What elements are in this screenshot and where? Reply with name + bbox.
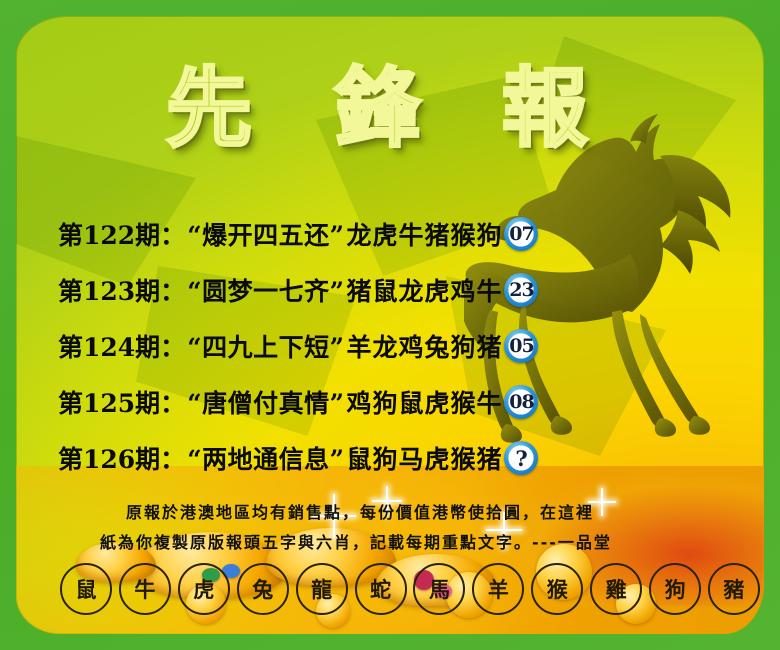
notice-line-2: 紙為你複製原版報頭五字與六肖，記載每期重點文字。---一品堂 [100,528,726,558]
lottery-ball: 05 [504,329,538,363]
issue-label: 第125期： [58,384,185,420]
zodiac-monkey[interactable]: 猴 [531,563,583,615]
lottery-ball: 23 [504,273,538,307]
issue-label: 第124期： [58,328,185,364]
zodiac-text: 龙虎牛猪猴狗 [346,216,502,252]
phrase-text: “圆梦一七齐” [187,272,344,308]
phrase-text: “爆开四五还” [187,216,344,252]
page-title: 先 鋒 報 [16,64,764,154]
zodiac-tiger[interactable]: 虎 [178,563,230,615]
zodiac-text: 羊龙鸡兔狗猪 [346,328,502,364]
phrase-text: “两地通信息” [187,440,344,476]
ball-number: 07 [509,223,533,245]
zodiac-rat[interactable]: 鼠 [60,563,112,615]
notice-line-1: 原報於港澳地區均有銷售點，每份價值港幣使拾圓，在這裡 [126,503,594,522]
issue-label: 第122期： [58,216,185,252]
zodiac-snake[interactable]: 蛇 [355,563,407,615]
zodiac-strip: 鼠 牛 虎 兔 龍 蛇 馬 羊 猴 雞 狗 豬 [60,564,760,614]
lottery-ball: 07 [504,217,538,251]
lottery-ball: 08 [504,385,538,419]
ball-number: 23 [509,279,533,301]
zodiac-text: 鼠狗马虎猴猪 [346,440,502,476]
ball-number: 08 [509,391,533,413]
zodiac-goat[interactable]: 羊 [472,563,524,615]
prediction-row[interactable]: 第122期： “爆开四五还” 龙虎牛猪猴狗 07 [58,206,578,262]
zodiac-horse[interactable]: 馬 [413,563,465,615]
prediction-row[interactable]: 第124期： “四九上下短” 羊龙鸡兔狗猪 05 [58,318,578,374]
zodiac-pig[interactable]: 豬 [708,563,760,615]
issue-label: 第126期： [58,440,185,476]
prediction-row[interactable]: 第126期： “两地通信息” 鼠狗马虎猴猪 ? [58,430,578,486]
zodiac-text: 猪鼠龙虎鸡牛 [346,272,502,308]
inner-panel: 先 鋒 報 第122期： “爆开四五还” 龙虎牛猪猴狗 07 第123期： “圆… [16,16,764,634]
notice-text: 原報於港澳地區均有銷售點，每份價值港幣使拾圓，在這裡 紙為你複製原版報頭五字與六… [126,498,726,558]
ball-number: 05 [509,335,533,357]
zodiac-rabbit[interactable]: 兔 [237,563,289,615]
zodiac-ox[interactable]: 牛 [119,563,171,615]
zodiac-dragon[interactable]: 龍 [296,563,348,615]
prediction-list: 第122期： “爆开四五还” 龙虎牛猪猴狗 07 第123期： “圆梦一七齐” … [58,206,578,486]
zodiac-text: 鸡狗鼠虎猴牛 [346,384,502,420]
ball-number: ? [515,446,527,471]
lottery-ball-unknown: ? [504,441,538,475]
poster-image: 先 鋒 報 第122期： “爆开四五还” 龙虎牛猪猴狗 07 第123期： “圆… [0,0,780,650]
phrase-text: “四九上下短” [187,328,344,364]
zodiac-rooster[interactable]: 雞 [590,563,642,615]
zodiac-dog[interactable]: 狗 [649,563,701,615]
prediction-row[interactable]: 第125期： “唐僧付真情” 鸡狗鼠虎猴牛 08 [58,374,578,430]
issue-label: 第123期： [58,272,185,308]
phrase-text: “唐僧付真情” [187,384,344,420]
prediction-row[interactable]: 第123期： “圆梦一七齐” 猪鼠龙虎鸡牛 23 [58,262,578,318]
